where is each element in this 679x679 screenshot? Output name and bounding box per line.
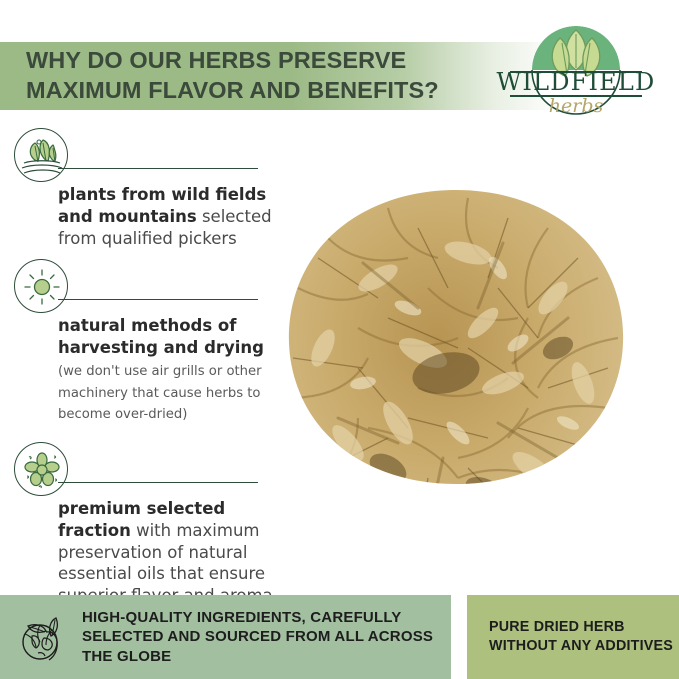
sun-icon: [14, 259, 68, 313]
infographic-page: WHY DO OUR HERBS PRESERVE MAXIMUM FLAVOR…: [0, 0, 679, 679]
feature-item-wild-fields: plants from wild fields and mountains se…: [0, 128, 300, 249]
feature-text: premium selected fraction with maximum p…: [0, 498, 300, 607]
feature-head: [0, 259, 300, 315]
banner-high-quality: HIGH-QUALITY INGREDIENTS, CAREFULLY SELE…: [0, 595, 451, 679]
feature-divider: [58, 482, 258, 483]
svg-text:herbs: herbs: [549, 95, 604, 117]
feature-divider: [58, 168, 258, 169]
banner-pure-dried: PURE DRIED HERB WITHOUT ANY ADDITIVES: [467, 595, 679, 679]
feature-head: [0, 442, 300, 498]
feature-list: plants from wild fields and mountains se…: [0, 128, 300, 607]
feature-item-natural-drying: natural methods of harvesting and drying…: [0, 259, 300, 424]
dried-herb-pile-photo: [268, 168, 644, 578]
feature-item-premium-fraction: premium selected fraction with maximum p…: [0, 442, 300, 607]
brand-logo: WILDFIELD herbs: [484, 22, 668, 118]
page-title: WHY DO OUR HERBS PRESERVE MAXIMUM FLAVOR…: [26, 46, 456, 105]
feature-text: natural methods of harvesting and drying…: [0, 315, 300, 424]
banner-text: PURE DRIED HERB WITHOUT ANY ADDITIVES: [489, 618, 679, 655]
feature-divider: [58, 299, 258, 300]
feature-note: (we don't use air grills or other machin…: [58, 364, 262, 423]
field-plants-icon: [14, 128, 68, 182]
flower-icon: [14, 442, 68, 496]
feature-head: [0, 128, 300, 184]
feature-lead: natural methods of harvesting and drying: [58, 316, 264, 357]
globe-leaves-icon: [12, 606, 74, 668]
banner-text: HIGH-QUALITY INGREDIENTS, CAREFULLY SELE…: [74, 608, 451, 667]
feature-text: plants from wild fields and mountains se…: [0, 184, 300, 249]
svg-text:WILDFIELD: WILDFIELD: [497, 68, 656, 96]
